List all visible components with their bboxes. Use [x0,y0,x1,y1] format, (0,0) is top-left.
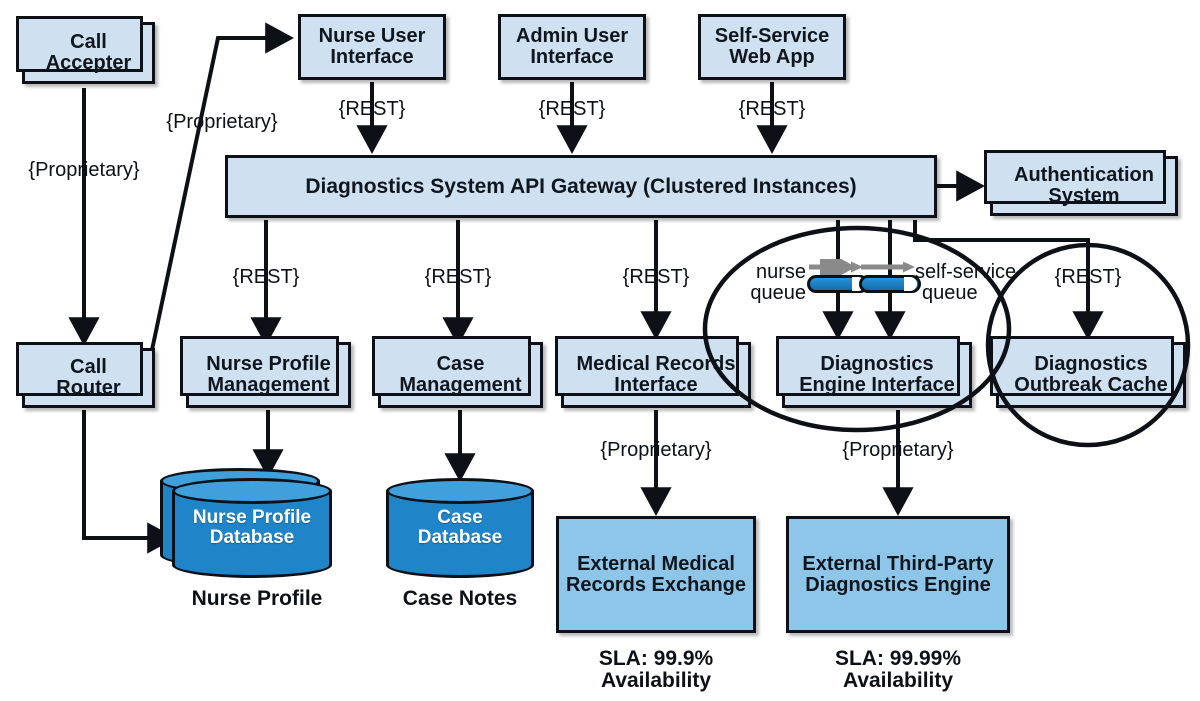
label-accepter-to-router-protocol: {Proprietary} [8,160,160,181]
node-nurse-profile-management[interactable]: Nurse Profile Management [186,342,351,408]
label-nurse-queue-line1: nurse [756,261,806,283]
label-self-service-queue-line2: queue [915,283,978,304]
node-nurse-user-interface[interactable]: Nurse User Interface [298,14,446,80]
caption-case-db: Case Notes [386,588,534,610]
node-external-diag-line1: External Third-Party [802,553,993,575]
node-admin-ui-line1: Admin User [516,25,628,47]
db-nurse-profile-line1: Nurse Profile [193,507,311,528]
node-call-router-line1: Call [70,356,107,378]
caption-sla-medical: SLA: 99.9% Availability [556,648,756,692]
node-self-service-web-app[interactable]: Self-Service Web App [698,14,846,80]
node-authentication-system-label: Authentication System [1014,165,1154,206]
node-auth-line1: Authentication [1014,164,1154,186]
caption-sla-diag-line1: SLA: 99.99% [835,647,961,670]
node-diagnostics-engine-interface[interactable]: Diagnostics Engine Interface [782,342,972,408]
node-api-gateway[interactable]: Diagnostics System API Gateway (Clustere… [225,155,937,218]
node-admin-user-interface-label: Admin User Interface [516,26,628,67]
node-medical-records-line2: Interface [614,374,697,396]
label-gateway-case-rest: {REST} [406,267,510,288]
node-nurse-profile-mgmt-line2: Management [207,374,329,396]
node-diag-engine-iface-line2: Engine Interface [799,374,955,396]
node-call-router-label: Call Router [56,357,120,398]
label-accepter-to-nurse-ui-protocol: {Proprietary} [146,112,298,133]
node-admin-ui-line2: Interface [530,46,613,68]
node-case-management[interactable]: Case Management [378,342,543,408]
node-nurse-user-interface-label: Nurse User Interface [319,26,426,67]
node-admin-user-interface[interactable]: Admin User Interface [498,14,646,80]
node-diagnostics-outbreak-cache-label: Diagnostics Outbreak Cache [1014,354,1167,395]
node-self-service-line2: Web App [729,46,815,68]
node-diagnostics-engine-interface-label: Diagnostics Engine Interface [799,354,955,395]
caption-sla-medical-line2: Availability [601,669,711,692]
node-case-management-label: Case Management [399,354,521,395]
wire-call-router-to-nurse-profile-db [84,410,172,538]
node-external-diag-line2: Diagnostics Engine [805,574,991,596]
node-authentication-system[interactable]: Authentication System [990,156,1178,216]
node-call-accepter-line1: Call [70,31,107,53]
node-nurse-ui-line2: Interface [330,46,413,68]
node-call-accepter-line2: Accepter [46,52,132,74]
label-nurse-queue-line2: queue [750,282,806,304]
node-call-accepter-label: Call Accepter [46,32,132,73]
label-admin-ui-rest: {REST} [520,99,624,120]
node-diagnostics-outbreak-cache[interactable]: Diagnostics Outbreak Cache [996,342,1186,408]
db-case-line1: Case [437,507,482,528]
label-diag-to-external-protocol: {Proprietary} [828,440,968,461]
label-self-service-rest: {REST} [720,99,824,120]
node-call-accepter[interactable]: Call Accepter [22,22,155,84]
node-self-service-web-app-label: Self-Service Web App [715,26,830,67]
node-auth-line2: System [1048,185,1119,207]
node-call-router-line2: Router [56,377,120,399]
architecture-diagram-canvas: Call Accepter Nurse User Interface Admin… [0,0,1200,701]
node-case-mgmt-line2: Management [399,374,521,396]
node-api-gateway-label: Diagnostics System API Gateway (Clustere… [305,176,856,198]
node-nurse-ui-line1: Nurse User [319,25,426,47]
node-diag-outbreak-cache-line1: Diagnostics [1034,353,1147,375]
caption-sla-diag-line2: Availability [843,669,953,692]
node-nurse-profile-management-label: Nurse Profile Management [206,354,330,395]
label-nurse-ui-rest: {REST} [320,99,424,120]
self-service-queue-icon [859,259,921,293]
label-medical-to-external-protocol: {Proprietary} [586,440,726,461]
caption-sla-diagnostics: SLA: 99.99% Availability [786,648,1010,692]
db-nurse-profile-line2: Database [210,527,295,548]
database-case[interactable]: Case Database [386,478,534,578]
label-self-service-queue-line1: self-service [915,261,1016,283]
node-diag-outbreak-cache-line2: Outbreak Cache [1014,374,1167,396]
node-external-medical-line1: External Medical [577,553,735,575]
node-case-mgmt-line1: Case [437,353,485,375]
node-self-service-line1: Self-Service [715,25,830,47]
db-case-line2: Database [418,527,503,548]
node-external-diag-label: External Third-Party Diagnostics Engine [802,554,993,595]
node-call-router[interactable]: Call Router [22,348,155,408]
node-medical-records-interface-label: Medical Records Interface [577,354,736,395]
label-gateway-outbreak-rest: {REST} [1036,267,1140,288]
database-nurse-profile-label: Nurse Profile Database [172,478,332,578]
label-self-service-queue: self-service queue [915,262,1035,304]
caption-nurse-profile-db: Nurse Profile [182,588,332,610]
node-medical-records-line1: Medical Records [577,353,736,375]
database-nurse-profile[interactable]: Nurse Profile Database [172,478,332,578]
node-diag-engine-iface-line1: Diagnostics [820,353,933,375]
node-external-medical-line2: Records Exchange [566,574,746,596]
node-external-medical-records-exchange[interactable]: External Medical Records Exchange [556,516,756,633]
self-service-queue-flow-arrow [859,259,921,275]
self-service-queue-pill [859,275,921,293]
label-gateway-nurse-profile-rest: {REST} [214,267,318,288]
node-external-third-party-diagnostics-engine[interactable]: External Third-Party Diagnostics Engine [786,516,1010,633]
node-medical-records-interface[interactable]: Medical Records Interface [561,342,751,408]
node-nurse-profile-mgmt-line1: Nurse Profile [206,353,330,375]
node-external-medical-label: External Medical Records Exchange [566,554,746,595]
label-nurse-queue: nurse queue [740,262,806,304]
label-gateway-medical-rest: {REST} [604,267,708,288]
caption-sla-medical-line1: SLA: 99.9% [599,647,713,670]
database-case-label: Case Database [386,478,534,578]
